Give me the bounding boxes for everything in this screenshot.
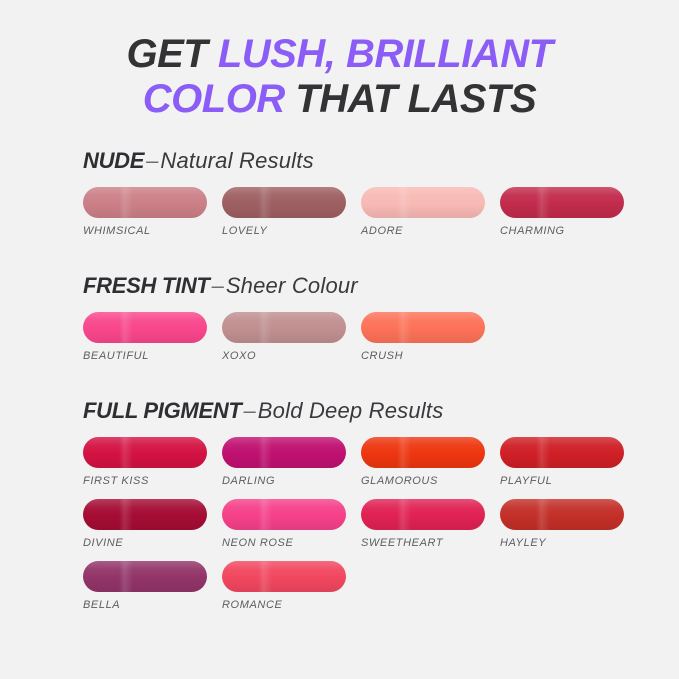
headline-line-2-dark: THAT LASTS bbox=[295, 77, 536, 121]
swatch-label: FIRST KISS bbox=[83, 475, 222, 487]
swatch-cell[interactable]: HAYLEY bbox=[500, 499, 639, 549]
swatch-cell[interactable]: LOVELY bbox=[222, 187, 361, 237]
color-swatch[interactable] bbox=[222, 561, 346, 592]
color-swatch[interactable] bbox=[361, 187, 485, 218]
swatch-label: WHIMSICAL bbox=[83, 225, 222, 237]
color-swatch[interactable] bbox=[361, 312, 485, 343]
swatch-label: BEAUTIFUL bbox=[83, 350, 222, 362]
swatch-label: CHARMING bbox=[500, 225, 639, 237]
swatch-label: DARLING bbox=[222, 475, 361, 487]
swatch-cell[interactable]: NEON ROSE bbox=[222, 499, 361, 549]
swatch-label: DIVINE bbox=[83, 537, 222, 549]
color-swatch[interactable] bbox=[500, 437, 624, 468]
color-swatch[interactable] bbox=[83, 312, 207, 343]
color-swatch[interactable] bbox=[222, 187, 346, 218]
section-nude-dash: – bbox=[144, 148, 160, 173]
section-full-pigment-dash: – bbox=[242, 398, 258, 423]
color-swatch[interactable] bbox=[83, 499, 207, 530]
swatch-cell[interactable]: SWEETHEART bbox=[361, 499, 500, 549]
color-swatch[interactable] bbox=[500, 499, 624, 530]
section-fresh-tint-title: FRESH TINT bbox=[83, 273, 210, 298]
swatch-cell[interactable]: DIVINE bbox=[83, 499, 222, 549]
headline-line-1-dark: GET bbox=[126, 32, 217, 76]
swatch-label: XOXO bbox=[222, 350, 361, 362]
swatch-label: LOVELY bbox=[222, 225, 361, 237]
page-title: GET LUSH, BRILLIANT COLOR THAT LASTS bbox=[0, 0, 679, 122]
section-full-pigment-subtitle: Bold Deep Results bbox=[258, 398, 444, 423]
swatch-label: PLAYFUL bbox=[500, 475, 639, 487]
color-swatch[interactable] bbox=[222, 499, 346, 530]
swatch-cell[interactable]: CHARMING bbox=[500, 187, 639, 237]
swatch-cell[interactable]: WHIMSICAL bbox=[83, 187, 222, 237]
headline-line-2-accent: COLOR bbox=[143, 77, 296, 121]
section-nude-swatches: WHIMSICAL LOVELY ADORE CHARMING bbox=[83, 187, 639, 249]
section-nude-header: NUDE–Natural Results bbox=[83, 148, 679, 174]
color-swatch[interactable] bbox=[361, 499, 485, 530]
swatch-cell[interactable]: CRUSH bbox=[361, 312, 500, 362]
swatch-cell[interactable]: FIRST KISS bbox=[83, 437, 222, 487]
color-swatch[interactable] bbox=[83, 437, 207, 468]
swatch-cell[interactable]: PLAYFUL bbox=[500, 437, 639, 487]
swatch-label: BELLA bbox=[83, 599, 222, 611]
section-full-pigment-title: FULL PIGMENT bbox=[83, 398, 242, 423]
swatch-label: SWEETHEART bbox=[361, 537, 500, 549]
section-full-pigment-header: FULL PIGMENT–Bold Deep Results bbox=[83, 398, 679, 424]
headline-line-1: GET LUSH, BRILLIANT bbox=[0, 32, 679, 77]
section-full-pigment: FULL PIGMENT–Bold Deep Results FIRST KIS… bbox=[0, 398, 679, 623]
swatch-cell[interactable]: ROMANCE bbox=[222, 561, 361, 611]
lipstick-shade-chart: GET LUSH, BRILLIANT COLOR THAT LASTS NUD… bbox=[0, 0, 679, 679]
section-fresh-tint: FRESH TINT–Sheer Colour BEAUTIFUL XOXO C… bbox=[0, 273, 679, 374]
section-fresh-tint-dash: – bbox=[210, 273, 226, 298]
swatch-label: ADORE bbox=[361, 225, 500, 237]
section-fresh-tint-subtitle: Sheer Colour bbox=[226, 273, 358, 298]
color-swatch[interactable] bbox=[222, 437, 346, 468]
swatch-label: NEON ROSE bbox=[222, 537, 361, 549]
color-swatch[interactable] bbox=[222, 312, 346, 343]
swatch-cell[interactable]: XOXO bbox=[222, 312, 361, 362]
section-nude-title: NUDE bbox=[83, 148, 144, 173]
section-full-pigment-swatches: FIRST KISS DARLING GLAMOROUS PLAYFUL DIV… bbox=[83, 437, 639, 623]
swatch-label: ROMANCE bbox=[222, 599, 361, 611]
color-swatch[interactable] bbox=[361, 437, 485, 468]
headline-line-1-accent: LUSH, BRILLIANT bbox=[218, 32, 553, 76]
swatch-cell[interactable]: BELLA bbox=[83, 561, 222, 611]
swatch-label: CRUSH bbox=[361, 350, 500, 362]
swatch-cell[interactable]: BEAUTIFUL bbox=[83, 312, 222, 362]
color-swatch[interactable] bbox=[83, 187, 207, 218]
section-nude: NUDE–Natural Results WHIMSICAL LOVELY AD… bbox=[0, 148, 679, 249]
swatch-cell[interactable]: GLAMOROUS bbox=[361, 437, 500, 487]
swatch-cell[interactable]: DARLING bbox=[222, 437, 361, 487]
swatch-cell[interactable]: ADORE bbox=[361, 187, 500, 237]
color-swatch[interactable] bbox=[500, 187, 624, 218]
section-fresh-tint-swatches: BEAUTIFUL XOXO CRUSH bbox=[83, 312, 639, 374]
swatch-label: GLAMOROUS bbox=[361, 475, 500, 487]
headline-line-2: COLOR THAT LASTS bbox=[0, 77, 679, 122]
shade-sections: NUDE–Natural Results WHIMSICAL LOVELY AD… bbox=[0, 148, 679, 623]
swatch-label: HAYLEY bbox=[500, 537, 639, 549]
section-nude-subtitle: Natural Results bbox=[160, 148, 313, 173]
section-fresh-tint-header: FRESH TINT–Sheer Colour bbox=[83, 273, 679, 299]
color-swatch[interactable] bbox=[83, 561, 207, 592]
